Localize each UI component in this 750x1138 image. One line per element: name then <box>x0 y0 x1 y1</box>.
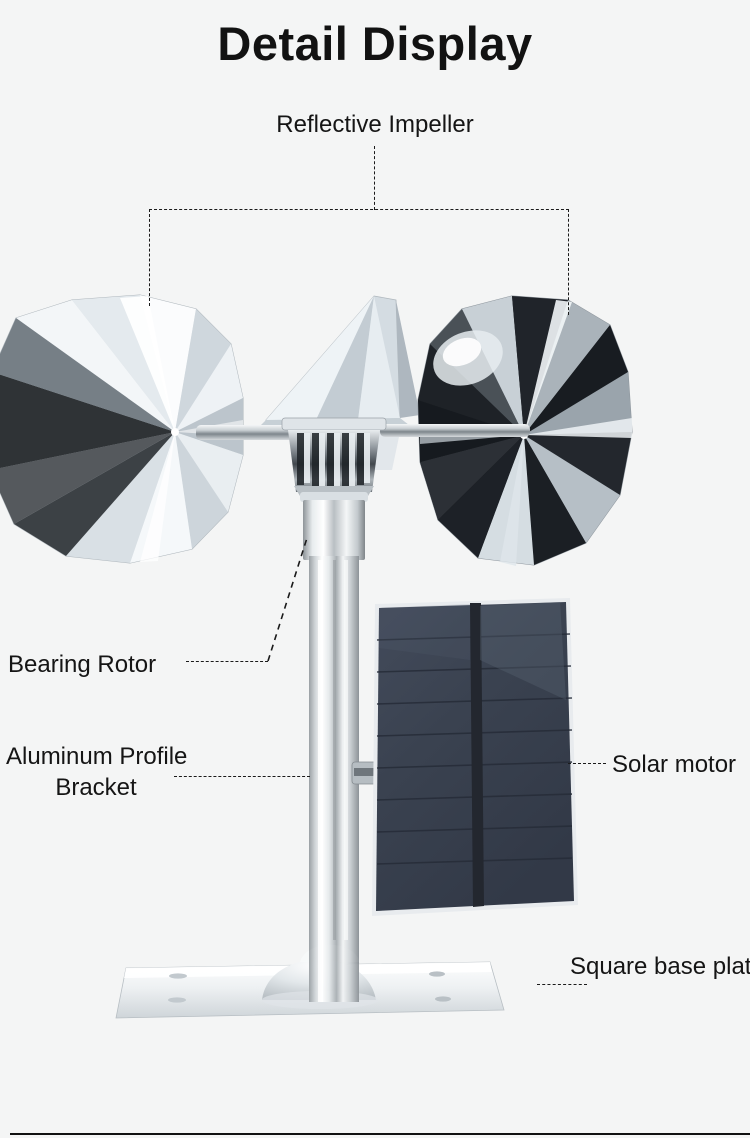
callout-label-aluminum-profile-bracket: Aluminum Profile Bracket <box>6 742 216 803</box>
callout-label-solar-motor: Solar motor <box>612 750 736 781</box>
callout-label-square-base-plate: Square base plate <box>570 952 750 983</box>
detail-display-page: Detail Display Reflective Impeller Beari… <box>0 0 750 1138</box>
bracket-label-line-2: Bracket <box>6 773 216 804</box>
leader-solar-motor <box>568 763 606 764</box>
leader-square-base <box>537 984 587 985</box>
bottom-divider <box>10 1133 750 1135</box>
bracket-label-line-1: Aluminum Profile <box>6 742 216 773</box>
page-title: Detail Display <box>0 16 750 71</box>
callout-label-reflective-impeller: Reflective Impeller <box>0 110 750 141</box>
callout-label-bearing-rotor: Bearing Rotor <box>8 650 156 681</box>
